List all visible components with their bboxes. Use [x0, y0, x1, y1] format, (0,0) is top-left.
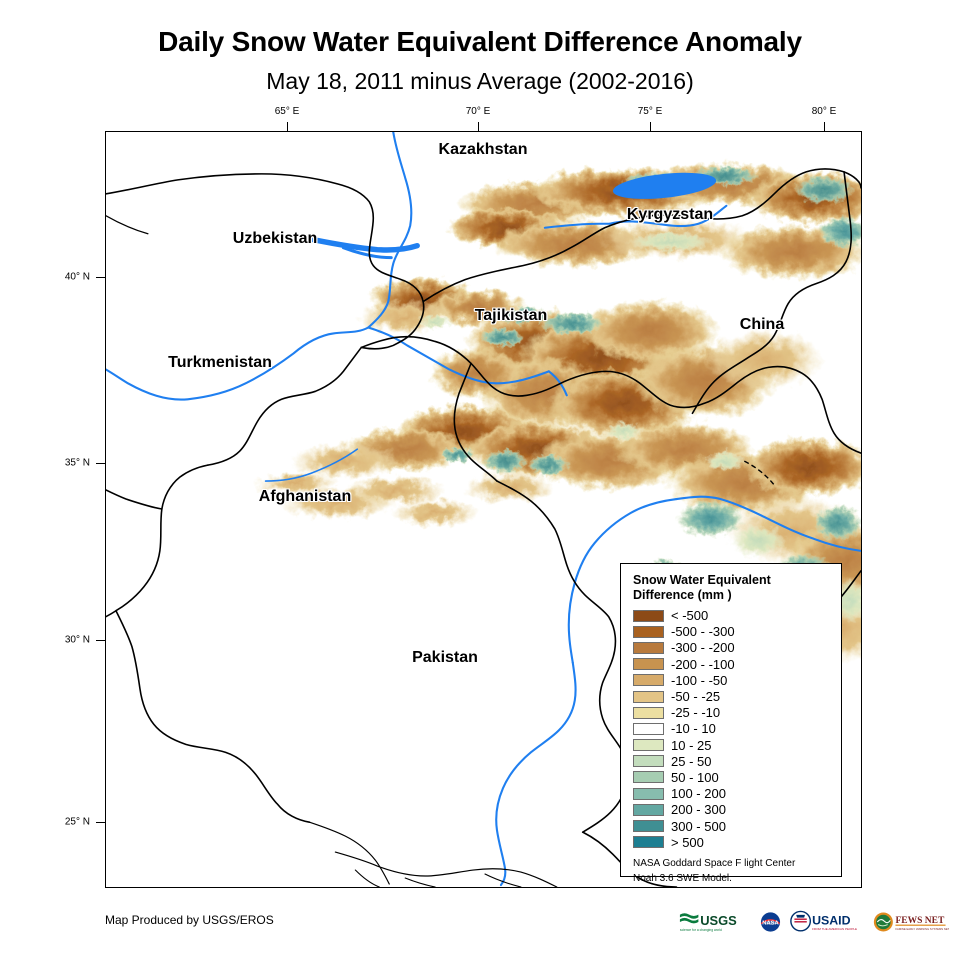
lat-tick-label: 35° N	[65, 458, 90, 469]
legend-swatch	[633, 836, 664, 848]
legend-row: -500 - -300	[633, 624, 831, 640]
legend-row: > 500	[633, 834, 831, 850]
legend-label: 100 - 200	[671, 787, 726, 800]
legend-class-list: < -500-500 - -300-300 - -200-200 - -100-…	[633, 608, 831, 851]
lon-tick-mark	[824, 122, 825, 131]
legend-source: NASA Goddard Space F light Center Noah 3…	[633, 857, 831, 886]
lat-tick-label: 40° N	[65, 272, 90, 283]
legend-row: -100 - -50	[633, 672, 831, 688]
legend-row: -300 - -200	[633, 640, 831, 656]
lon-tick-mark	[650, 122, 651, 131]
legend-row: 50 - 100	[633, 769, 831, 785]
legend-row: 25 - 50	[633, 753, 831, 769]
lat-tick-mark	[96, 277, 105, 278]
legend-swatch	[633, 820, 664, 832]
legend-swatch	[633, 707, 664, 719]
legend-row: -25 - -10	[633, 705, 831, 721]
legend-swatch	[633, 723, 664, 735]
lat-tick-label: 25° N	[65, 817, 90, 828]
lat-tick-mark	[96, 640, 105, 641]
legend-row: 200 - 300	[633, 802, 831, 818]
legend-panel: Snow Water Equivalent Difference (mm ) <…	[620, 563, 842, 877]
legend-label: -25 - -10	[671, 706, 720, 719]
legend-swatch	[633, 642, 664, 654]
legend-label: -500 - -300	[671, 625, 735, 638]
lat-tick-label: 30° N	[65, 635, 90, 646]
legend-label: -50 - -25	[671, 690, 720, 703]
svg-text:FAMINE EARLY WARNING SYSTEMS N: FAMINE EARLY WARNING SYSTEMS NETWORK	[895, 927, 949, 931]
lon-tick-label: 80° E	[812, 106, 837, 117]
legend-swatch	[633, 610, 664, 622]
map-credit: Map Produced by USGS/EROS	[105, 913, 274, 927]
lon-tick-label: 70° E	[466, 106, 491, 117]
legend-swatch	[633, 771, 664, 783]
legend-row: 10 - 25	[633, 737, 831, 753]
legend-title-line2: Difference (mm )	[633, 588, 831, 603]
lon-tick-mark	[287, 122, 288, 131]
legend-source-line1: NASA Goddard Space F light Center	[633, 857, 831, 872]
lon-tick-label: 75° E	[638, 106, 663, 117]
nasa-logo: NASA	[758, 910, 783, 934]
legend-row: -10 - 10	[633, 721, 831, 737]
usaid-logo: USAID FROM THE AMERICAN PEOPLE	[790, 910, 866, 934]
legend-row: -50 - -25	[633, 688, 831, 704]
legend-row: 100 - 200	[633, 786, 831, 802]
svg-text:FROM THE AMERICAN PEOPLE: FROM THE AMERICAN PEOPLE	[812, 927, 857, 931]
lat-tick-mark	[96, 463, 105, 464]
legend-row: 300 - 500	[633, 818, 831, 834]
legend-label: -200 - -100	[671, 658, 735, 671]
legend-swatch	[633, 691, 664, 703]
legend-swatch	[633, 626, 664, 638]
legend-source-line2: Noah 3.6 SWE Model.	[633, 872, 831, 887]
svg-text:science for a changing world: science for a changing world	[680, 928, 722, 932]
svg-text:USGS: USGS	[700, 913, 737, 928]
map-page: Daily Snow Water Equivalent Difference A…	[0, 0, 960, 960]
usgs-logo: USGS science for a changing world	[679, 910, 751, 934]
legend-label: -100 - -50	[671, 674, 727, 687]
legend-row: < -500	[633, 608, 831, 624]
lon-tick-label: 65° E	[275, 106, 300, 117]
page-subtitle: May 18, 2011 minus Average (2002-2016)	[0, 68, 960, 95]
svg-text:USAID: USAID	[812, 914, 851, 928]
legend-label: 50 - 100	[671, 771, 719, 784]
legend-swatch	[633, 788, 664, 800]
svg-text:FEWS NET: FEWS NET	[895, 916, 944, 926]
legend-title: Snow Water Equivalent Difference (mm )	[633, 573, 831, 604]
legend-label: 300 - 500	[671, 820, 726, 833]
agency-logos: USGS science for a changing world NASA U…	[679, 908, 949, 936]
page-title: Daily Snow Water Equivalent Difference A…	[0, 26, 960, 58]
lat-tick-mark	[96, 822, 105, 823]
legend-swatch	[633, 739, 664, 751]
legend-swatch	[633, 674, 664, 686]
legend-swatch	[633, 755, 664, 767]
fewsnet-logo: FEWS NET FAMINE EARLY WARNING SYSTEMS NE…	[873, 910, 949, 934]
lon-tick-mark	[478, 122, 479, 131]
svg-text:NASA: NASA	[762, 921, 779, 927]
legend-label: 10 - 25	[671, 739, 711, 752]
legend-label: 25 - 50	[671, 755, 711, 768]
legend-label: -300 - -200	[671, 641, 735, 654]
legend-swatch	[633, 658, 664, 670]
legend-title-line1: Snow Water Equivalent	[633, 573, 831, 588]
legend-swatch	[633, 804, 664, 816]
legend-label: -10 - 10	[671, 722, 716, 735]
legend-row: -200 - -100	[633, 656, 831, 672]
legend-label: > 500	[671, 836, 704, 849]
legend-label: < -500	[671, 609, 708, 622]
legend-label: 200 - 300	[671, 803, 726, 816]
